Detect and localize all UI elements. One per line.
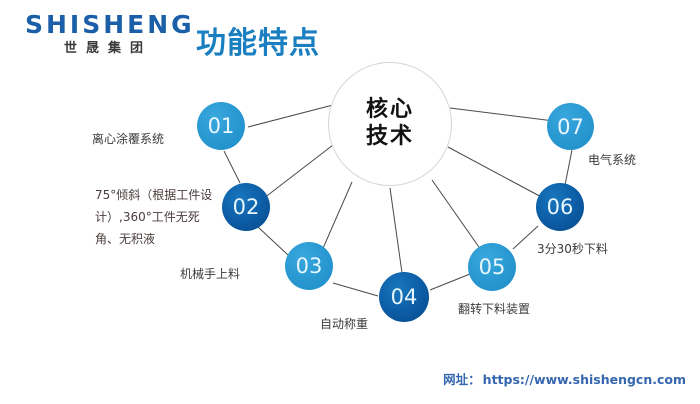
hub-core-technology: 核心 技术 xyxy=(328,62,452,186)
connector-06-07 xyxy=(565,150,572,185)
node-05-number: 05 xyxy=(479,255,506,279)
node-04[interactable]: 04 xyxy=(379,272,429,322)
node-02-number: 02 xyxy=(233,195,260,219)
node-04-number: 04 xyxy=(391,285,418,309)
node-07-number: 07 xyxy=(557,115,584,139)
caption-04: 自动称重 xyxy=(320,313,368,335)
connector-05-06 xyxy=(513,226,538,249)
caption-02: 75°倾斜（根据工件设计）,360°工件无死角、无积液 xyxy=(95,184,223,251)
node-06[interactable]: 06 xyxy=(536,183,584,231)
caption-07: 电气系统 xyxy=(588,149,636,171)
footer-url[interactable]: https://www.shishengcn.com xyxy=(483,372,686,387)
footer-label: 网址： xyxy=(443,372,481,387)
node-06-number: 06 xyxy=(547,195,574,219)
hub-line-2: 技术 xyxy=(366,124,414,151)
connector-hub-01 xyxy=(248,105,333,127)
node-05[interactable]: 05 xyxy=(468,243,516,291)
connector-03-04 xyxy=(333,283,378,296)
connector-04-05 xyxy=(430,274,470,290)
slide-canvas: SHISHENG 世晟集团 功能特点 核心 技术 01 xyxy=(0,0,700,404)
node-03-number: 03 xyxy=(296,254,323,278)
caption-05: 翻转下料装置 xyxy=(458,298,530,320)
caption-06: 3分30秒下料 xyxy=(537,238,608,260)
node-07[interactable]: 07 xyxy=(547,103,594,150)
footer-website: 网址：https://www.shishengcn.com xyxy=(443,369,686,388)
node-02[interactable]: 02 xyxy=(222,183,270,231)
node-03[interactable]: 03 xyxy=(285,242,333,290)
hub-line-1: 核心 xyxy=(366,97,414,124)
connector-01-02 xyxy=(224,151,240,183)
connector-hub-06 xyxy=(448,147,547,200)
caption-01: 离心涂覆系统 xyxy=(92,128,164,150)
caption-03: 机械手上料 xyxy=(180,263,240,285)
node-01-number: 01 xyxy=(208,114,235,138)
node-01[interactable]: 01 xyxy=(197,102,245,150)
connector-02-03 xyxy=(258,227,288,255)
connector-hub-07 xyxy=(450,108,562,122)
